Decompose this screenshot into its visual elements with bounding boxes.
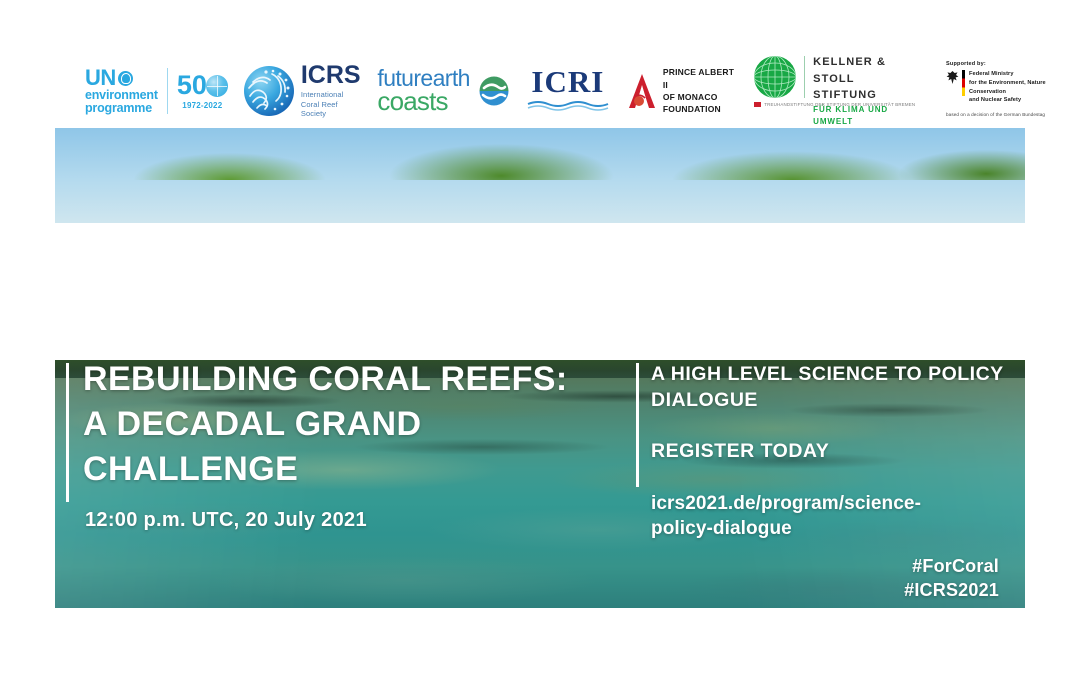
logo-german-federal-ministry[interactable]: Supported by: Federal Ministry for the E… (946, 61, 1080, 118)
ks-footnote: TREUHANDSTIFTUNG DER STIFTUNG DER UNIVER… (754, 102, 915, 107)
icrs-name: ICRS (301, 63, 362, 88)
german-flag-icon (962, 70, 965, 96)
pa2-line2: OF MONACO (663, 91, 738, 103)
bmu-line1: Federal Ministry (969, 70, 1080, 79)
unep-wordmark: UN environment programme (85, 67, 158, 115)
hashtag-icrs2021[interactable]: #ICRS2021 (904, 579, 999, 603)
logo-strip: UN environment programme 50 1972-2022 (85, 60, 1080, 122)
green-globe-icon (754, 56, 796, 98)
bmu-footnote: based on a decision of the German Bundes… (946, 112, 1080, 117)
bmu-supported-by: Supported by: (946, 61, 1080, 67)
bmu-wordmark: Federal Ministry for the Environment, Na… (969, 70, 1080, 106)
anniversary-years: 1972-2022 (182, 101, 222, 110)
logo-unep[interactable]: UN environment programme 50 1972-2022 (85, 62, 228, 120)
pa2-line3: FOUNDATION (663, 103, 738, 115)
hashtag-forcoral[interactable]: #ForCoral (904, 555, 999, 579)
coral-globe-icon (244, 66, 294, 116)
event-details-column: A HIGH LEVEL SCIENCE TO POLICY DIALOGUE … (651, 362, 1011, 541)
bmu-line2: for the Environment, Nature Conservation (969, 79, 1080, 97)
title-line2: A DECADAL GRAND (83, 402, 628, 447)
fec-line1: futurearth (377, 68, 469, 89)
ks-line3: FÜR KLIMA UND UMWELT (813, 104, 926, 128)
title-line3: CHALLENGE (83, 447, 628, 492)
leaf-wave-circle-icon (477, 74, 511, 108)
logo-prince-albert-ii-foundation[interactable]: PRINCE ALBERT II OF MONACO FOUNDATION (627, 66, 738, 115)
logo-divider (167, 68, 168, 114)
icrs-sub-line1: International (301, 90, 362, 99)
monaco-a-icon (627, 72, 657, 110)
logo-divider (804, 56, 805, 98)
logo-future-earth-coasts[interactable]: futurearth coasts (377, 68, 510, 113)
logo-icrs[interactable]: ICRS International Coral Reef Society (244, 63, 362, 118)
event-datetime: 12:00 p.m. UTC, 20 July 2021 (85, 509, 367, 532)
bremen-key-icon (754, 102, 761, 107)
register-call-to-action[interactable]: REGISTER TODAY (651, 440, 1011, 463)
column-divider-bar (636, 363, 639, 487)
registration-url-line1[interactable]: icrs2021.de/program/science- (651, 491, 1011, 516)
subhead-line2: DIALOGUE (651, 388, 1011, 414)
pa2-wordmark: PRINCE ALBERT II OF MONACO FOUNDATION (663, 66, 738, 115)
fec-wordmark: futurearth coasts (377, 68, 469, 113)
un-emblem-icon (118, 71, 133, 86)
wave-underline-icon (527, 98, 609, 116)
ks-line1: KELLNER & STOLL (813, 54, 926, 87)
hero-text-overlay: REBUILDING CORAL REEFS: A DECADAL GRAND … (55, 128, 1025, 608)
ks-footnote-text: TREUHANDSTIFTUNG DER STIFTUNG DER UNIVER… (764, 102, 915, 107)
unep-un-text: UN (85, 67, 116, 89)
hero-banner: REBUILDING CORAL REEFS: A DECADAL GRAND … (55, 128, 1025, 608)
icrs-sub-line2: Coral Reef Society (301, 100, 362, 119)
subhead-line1: A HIGH LEVEL SCIENCE TO POLICY (651, 362, 1011, 388)
event-title: REBUILDING CORAL REEFS: A DECADAL GRAND … (83, 357, 628, 492)
anniversary-number: 50 (177, 72, 207, 99)
hashtags: #ForCoral #ICRS2021 (904, 555, 999, 603)
registration-url-line2[interactable]: policy-dialogue (651, 516, 1011, 541)
icrs-wordmark: ICRS International Coral Reef Society (301, 63, 362, 118)
icri-name: ICRI (531, 66, 604, 97)
german-eagle-icon (946, 70, 959, 85)
left-accent-bar (66, 363, 69, 502)
globe-icon (206, 75, 228, 97)
logo-icri[interactable]: ICRI (527, 66, 609, 116)
logo-kellner-stoll-stiftung[interactable]: KELLNER & STOLL STIFTUNG FÜR KLIMA UND U… (754, 54, 926, 128)
unep-50th-anniversary: 50 1972-2022 (177, 72, 228, 110)
fec-line2: coasts (377, 90, 469, 114)
title-line1: REBUILDING CORAL REEFS: (83, 357, 628, 402)
pa2-line1: PRINCE ALBERT II (663, 66, 738, 91)
ks-wordmark: KELLNER & STOLL STIFTUNG FÜR KLIMA UND U… (813, 54, 926, 128)
sponsor-logo-bar: UN environment programme 50 1972-2022 (0, 0, 1080, 128)
unep-line3: programme (85, 102, 158, 115)
bmu-line3: and Nuclear Safety (969, 96, 1080, 105)
